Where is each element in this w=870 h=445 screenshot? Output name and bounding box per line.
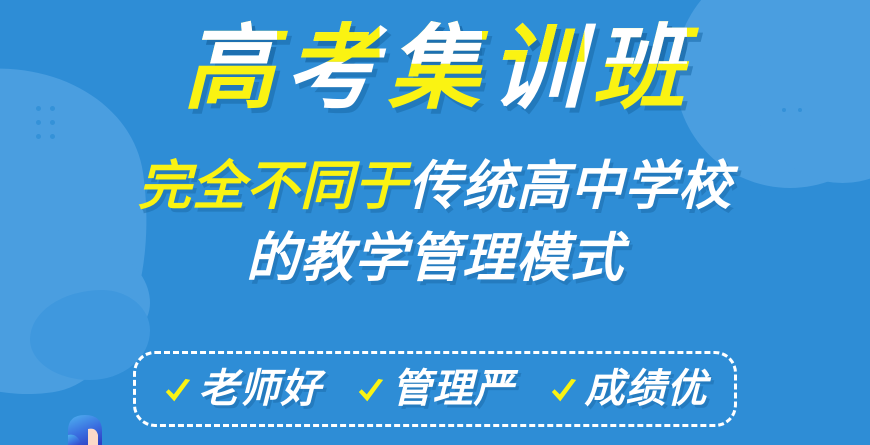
feature-item-1: 老师好 <box>163 369 322 409</box>
features-box: 老师好 管理严 成绩优 <box>133 351 737 427</box>
headline-char-5: 班 <box>593 20 687 119</box>
subtitle-line-2: 的教学管理模式 <box>0 232 870 285</box>
check-icon <box>163 377 193 407</box>
dot <box>50 120 55 125</box>
headline-char-1: 高 <box>183 20 277 119</box>
dot <box>36 134 41 139</box>
headline-char-2: 考 <box>286 20 380 119</box>
check-icon <box>549 377 579 407</box>
headline-char-3: 集 <box>388 20 482 119</box>
feature-label-3: 成绩优 <box>585 369 708 409</box>
dot <box>50 134 55 139</box>
check-icon <box>356 377 386 407</box>
promo-poster: 高 考 集 训 班 完全不同于传统高中学校 的教学管理模式 老师好 管理严 <box>0 0 870 445</box>
subtitle-rest: 传统高中学校 <box>408 157 732 216</box>
headline-char-4: 训 <box>490 20 584 119</box>
feature-label-2: 管理严 <box>392 369 515 409</box>
headline: 高 考 集 训 班 <box>0 20 870 119</box>
student-illustration <box>58 409 114 445</box>
subtitle-highlight: 完全不同于 <box>138 157 408 216</box>
dot <box>36 120 41 125</box>
feature-label-1: 老师好 <box>199 369 322 409</box>
feature-item-2: 管理严 <box>356 369 515 409</box>
subtitle-line-1: 完全不同于传统高中学校 <box>0 160 870 213</box>
feature-item-3: 成绩优 <box>549 369 708 409</box>
subtitle-line-2-text: 的教学管理模式 <box>246 229 624 288</box>
